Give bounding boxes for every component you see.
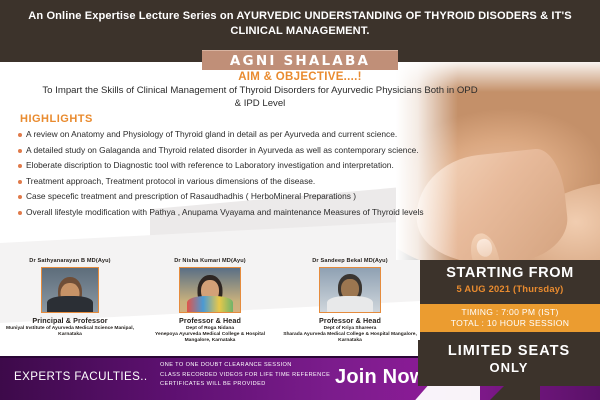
aim-body: To Impart the Skills of Clinical Managem… — [0, 85, 600, 110]
aim-title: AIM & OBJECTIVE....! — [0, 71, 600, 83]
bullet-icon — [18, 195, 22, 199]
starting-from-block: STARTING FROM 5 AUG 2021 (Thursday) — [420, 260, 600, 304]
bullet-icon — [18, 149, 22, 153]
faculty-dept: Dept of Roga Nidana Yenepoya Ayurveda Me… — [143, 326, 277, 344]
join-now-button[interactable]: Join Now — [335, 366, 426, 389]
faculty-card-1: Dr Sathyanarayan B MD(Ayu) Principal & P… — [0, 258, 140, 358]
highlight-text: Case specefic treatment and prescription… — [26, 191, 356, 202]
avatar-torso — [327, 296, 373, 312]
faculty-role: Principal & Professor — [3, 316, 137, 325]
limited-seats-line2: ONLY — [418, 360, 600, 375]
faculty-dept: Dept of Kriya Shareera Sharada Ayurveda … — [283, 326, 417, 344]
faculty-role: Professor & Head — [283, 316, 417, 325]
highlight-item: A review on Anatomy and Physiology of Th… — [14, 129, 434, 140]
highlight-text: A review on Anatomy and Physiology of Th… — [26, 129, 397, 140]
highlight-item: Eloberate discription to Diagnostic tool… — [14, 160, 434, 171]
highlights-list: A review on Anatomy and Physiology of Th… — [14, 129, 434, 218]
highlight-item: Overall lifestyle modification with Path… — [14, 207, 434, 218]
poster-title: An Online Expertise Lecture Series on AY… — [16, 9, 584, 39]
highlight-item: A detailed study on Galaganda and Thyroi… — [14, 145, 434, 156]
limited-seats-block: LIMITED SEATS ONLY — [418, 340, 600, 386]
starting-date: 5 AUG 2021 (Thursday) — [420, 283, 600, 294]
perks-list: ONE TO ONE DOUBT CLEARANCE SESSION CLASS… — [160, 361, 330, 390]
faculty-avatar — [41, 267, 99, 313]
total-sessions-text: TOTAL : 10 HOUR SESSION — [420, 318, 600, 329]
experts-faculties-label: EXPERTS FACULTIES.. — [14, 370, 147, 383]
starting-from-label: STARTING FROM — [420, 260, 600, 281]
highlight-text: A detailed study on Galaganda and Thyroi… — [26, 145, 419, 156]
avatar-torso — [47, 296, 93, 312]
timing-block: TIMING : 7:00 PM (IST) TOTAL : 10 HOUR S… — [420, 304, 600, 332]
faculty-role: Professor & Head — [143, 316, 277, 325]
bullet-icon — [18, 180, 22, 184]
poster-root: An Online Expertise Lecture Series on AY… — [0, 0, 600, 400]
bullet-icon — [18, 133, 22, 137]
highlights-title: HIGHLIGHTS — [20, 113, 434, 125]
highlight-item: Case specefic treatment and prescription… — [14, 191, 434, 202]
timing-text: TIMING : 7:00 PM (IST) — [420, 307, 600, 318]
faculty-name: Dr Sathyanarayan B MD(Ayu) — [3, 258, 137, 264]
faculty-avatar — [179, 267, 241, 313]
limited-seats-line1: LIMITED SEATS — [418, 343, 600, 359]
highlight-item: Treatment approach, Treatment protocol i… — [14, 176, 434, 187]
faculty-name: Dr Sandeep Bekal MD(Ayu) — [283, 258, 417, 264]
faculty-avatar — [319, 267, 381, 313]
highlights-section: HIGHLIGHTS A review on Anatomy and Physi… — [14, 113, 434, 223]
bullet-icon — [18, 211, 22, 215]
faculty-card-3: Dr Sandeep Bekal MD(Ayu) Professor & Hea… — [280, 258, 420, 358]
faculty-name: Dr Nisha Kumari MD(Ayu) — [143, 258, 277, 264]
bullet-icon — [18, 164, 22, 168]
faculty-row: Dr Sathyanarayan B MD(Ayu) Principal & P… — [0, 258, 420, 358]
faculty-dept: Muniyal Institute of Ayurveda Medical Sc… — [3, 326, 137, 338]
faculty-card-2: Dr Nisha Kumari MD(Ayu) Professor & Head… — [140, 258, 280, 358]
highlight-text: Treatment approach, Treatment protocol i… — [26, 176, 315, 187]
avatar-torso — [187, 296, 233, 312]
aim-section: AIM & OBJECTIVE....! To Impart the Skill… — [0, 71, 600, 110]
highlight-text: Eloberate discription to Diagnostic tool… — [26, 160, 394, 171]
highlight-text: Overall lifestyle modification with Path… — [26, 207, 424, 218]
agni-shalaba-ribbon: AGNI SHALABA — [202, 50, 398, 70]
ribbon-label: AGNI SHALABA — [202, 51, 398, 71]
